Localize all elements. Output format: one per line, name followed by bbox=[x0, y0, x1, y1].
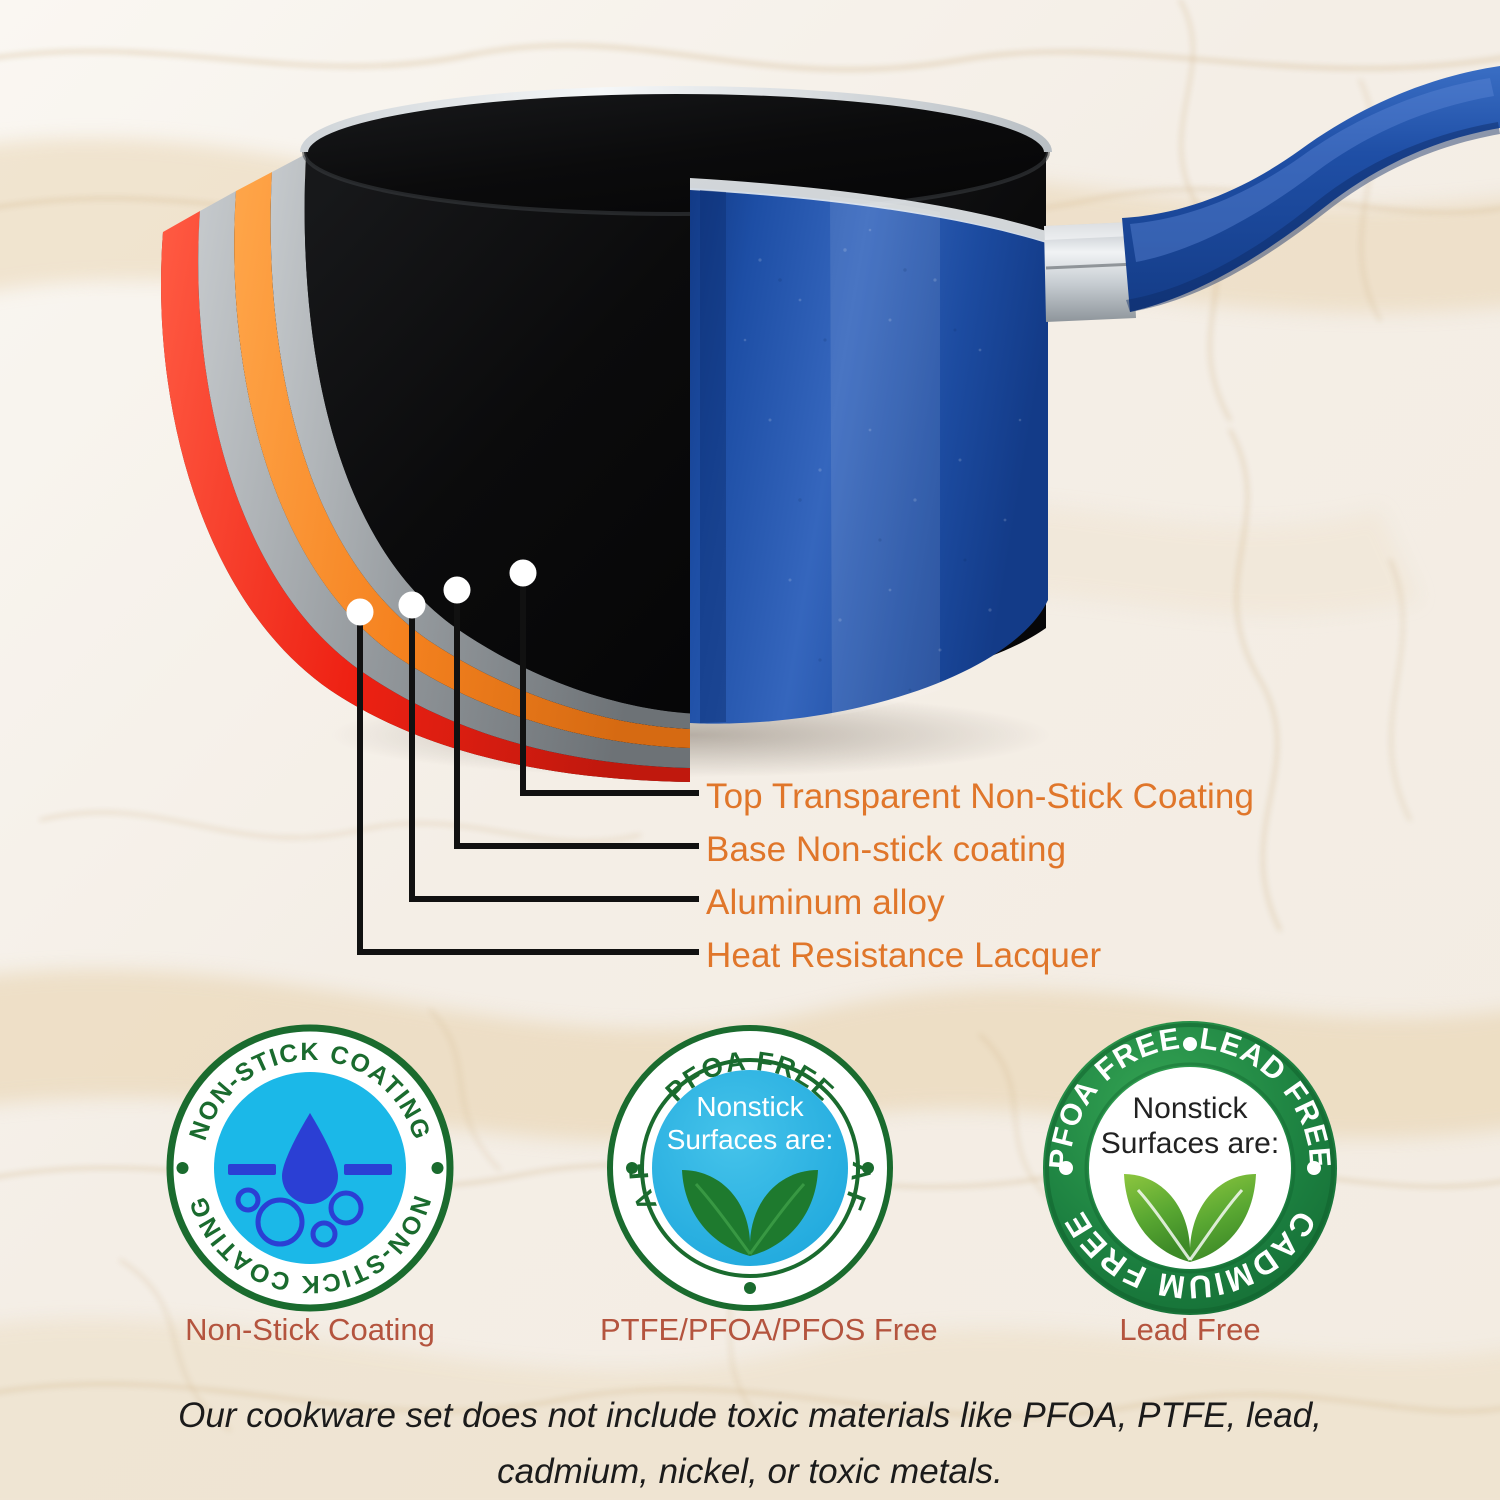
badge-lead-free: PFOA FREE LEAD FREE CADMIUM FREE Nonstic… bbox=[1040, 1018, 1340, 1318]
layer-label-aluminum-alloy: Aluminum alloy bbox=[706, 876, 1254, 929]
badge2-inner-line-1: Nonstick bbox=[696, 1091, 804, 1122]
layer-label-base-non-stick-coating: Base Non-stick coating bbox=[706, 823, 1254, 876]
footer-disclaimer: Our cookware set does not include toxic … bbox=[0, 1388, 1500, 1500]
footer-line-1: Our cookware set does not include toxic … bbox=[60, 1388, 1440, 1444]
badge3-inner-line-1: Nonstick bbox=[1132, 1092, 1248, 1125]
badge-caption-row: Non-Stick Coating PTFE/PFOA/PFOS Free Le… bbox=[0, 1312, 1500, 1348]
pan-handle bbox=[1122, 66, 1500, 312]
badge-ptfe-pfoa-pfos-free: PFOA FREE PFOA FREE PFOA FREE Nonstick S… bbox=[600, 1018, 900, 1318]
badge-caption-ptfe-pfoa-pfos-free: PTFE/PFOA/PFOS Free bbox=[600, 1312, 900, 1348]
footer-line-2: cadmium, nickel, or toxic metals. bbox=[60, 1444, 1440, 1500]
badge-caption-non-stick-coating: Non-Stick Coating bbox=[160, 1312, 460, 1348]
badge-non-stick-coating: NON-STICK COATING NON-STICK COATING bbox=[160, 1018, 460, 1318]
certification-badge-row: NON-STICK COATING NON-STICK COATING bbox=[0, 1018, 1500, 1318]
pan-body-blue bbox=[690, 178, 1050, 724]
layer-label-heat-resistance-lacquer: Heat Resistance Lacquer bbox=[706, 929, 1254, 982]
layer-label-top-transparent-non-stick-coating: Top Transparent Non-Stick Coating bbox=[706, 770, 1254, 823]
saucepan-cutaway-illustration bbox=[0, 0, 1500, 800]
badge-caption-lead-free: Lead Free bbox=[1040, 1312, 1340, 1348]
layer-label-list: Top Transparent Non-Stick Coating Base N… bbox=[706, 770, 1254, 982]
handle-collar bbox=[1044, 222, 1136, 322]
badge3-inner-line-2: Surfaces are: bbox=[1101, 1127, 1279, 1160]
badge2-inner-line-2: Surfaces are: bbox=[667, 1124, 834, 1155]
